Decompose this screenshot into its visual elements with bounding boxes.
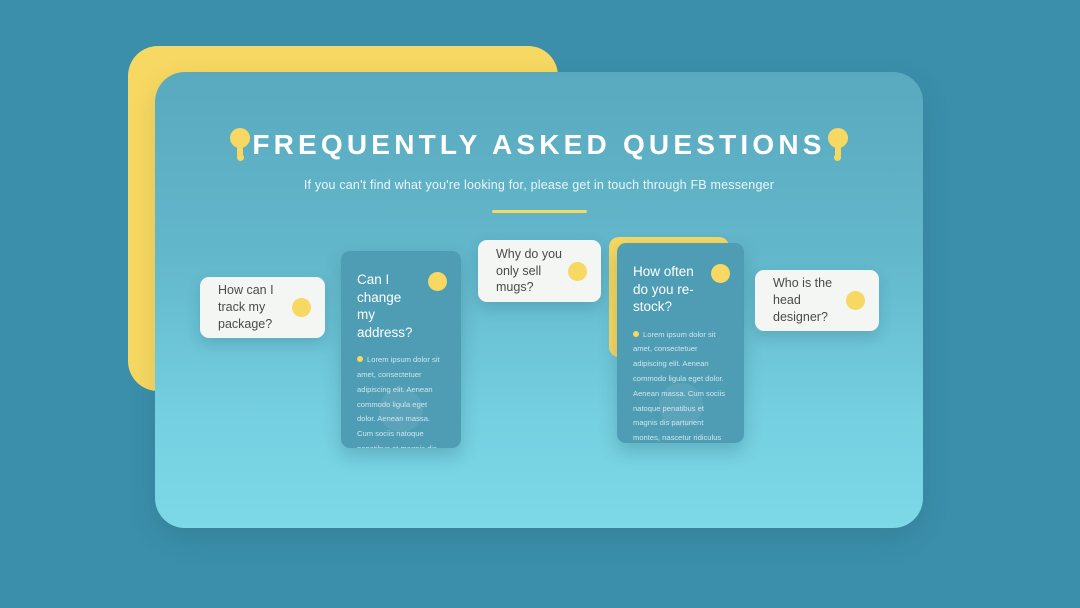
faq-card-collapsed[interactable]: Who is the head designer? <box>755 270 879 331</box>
page-subtitle: If you can't find what you're looking fo… <box>155 178 923 192</box>
faq-question: Can I change my address? <box>341 251 461 341</box>
page-title: FREQUENTLY ASKED QUESTIONS <box>252 131 825 159</box>
bullet-icon <box>633 331 639 337</box>
plus-icon[interactable] <box>292 298 311 317</box>
yellow-divider <box>492 210 587 213</box>
bullet-icon <box>357 356 363 362</box>
faq-header: FREQUENTLY ASKED QUESTIONS If you can't … <box>155 72 923 213</box>
faq-card-collapsed[interactable]: How can I track my package? <box>200 277 325 338</box>
faq-question: Why do you only sell mugs? <box>478 246 568 297</box>
yellow-drip-icon <box>228 128 252 162</box>
yellow-drip-icon <box>826 128 850 162</box>
minus-icon[interactable] <box>711 264 730 283</box>
faq-slide: FREQUENTLY ASKED QUESTIONS If you can't … <box>0 0 1080 608</box>
faq-answer-text: Lorem ipsum dolor sit amet, consectetuer… <box>357 355 440 448</box>
plus-icon[interactable] <box>568 262 587 281</box>
faq-answer: Lorem ipsum dolor sit amet, consectetuer… <box>341 341 461 448</box>
plus-icon[interactable] <box>846 291 865 310</box>
faq-question: Who is the head designer? <box>755 275 846 326</box>
faq-card-expanded[interactable]: Can I change my address? Lorem ipsum dol… <box>341 251 461 448</box>
faq-answer: Lorem ipsum dolor sit amet, consectetuer… <box>617 316 744 443</box>
faq-answer-text: Lorem ipsum dolor sit amet, consectetuer… <box>633 330 725 443</box>
title-row: FREQUENTLY ASKED QUESTIONS <box>155 128 923 162</box>
faq-question: How can I track my package? <box>200 282 292 333</box>
faq-card-collapsed[interactable]: Why do you only sell mugs? <box>478 240 601 302</box>
minus-icon[interactable] <box>428 272 447 291</box>
faq-card-expanded[interactable]: How often do you re-stock? Lorem ipsum d… <box>617 243 744 443</box>
